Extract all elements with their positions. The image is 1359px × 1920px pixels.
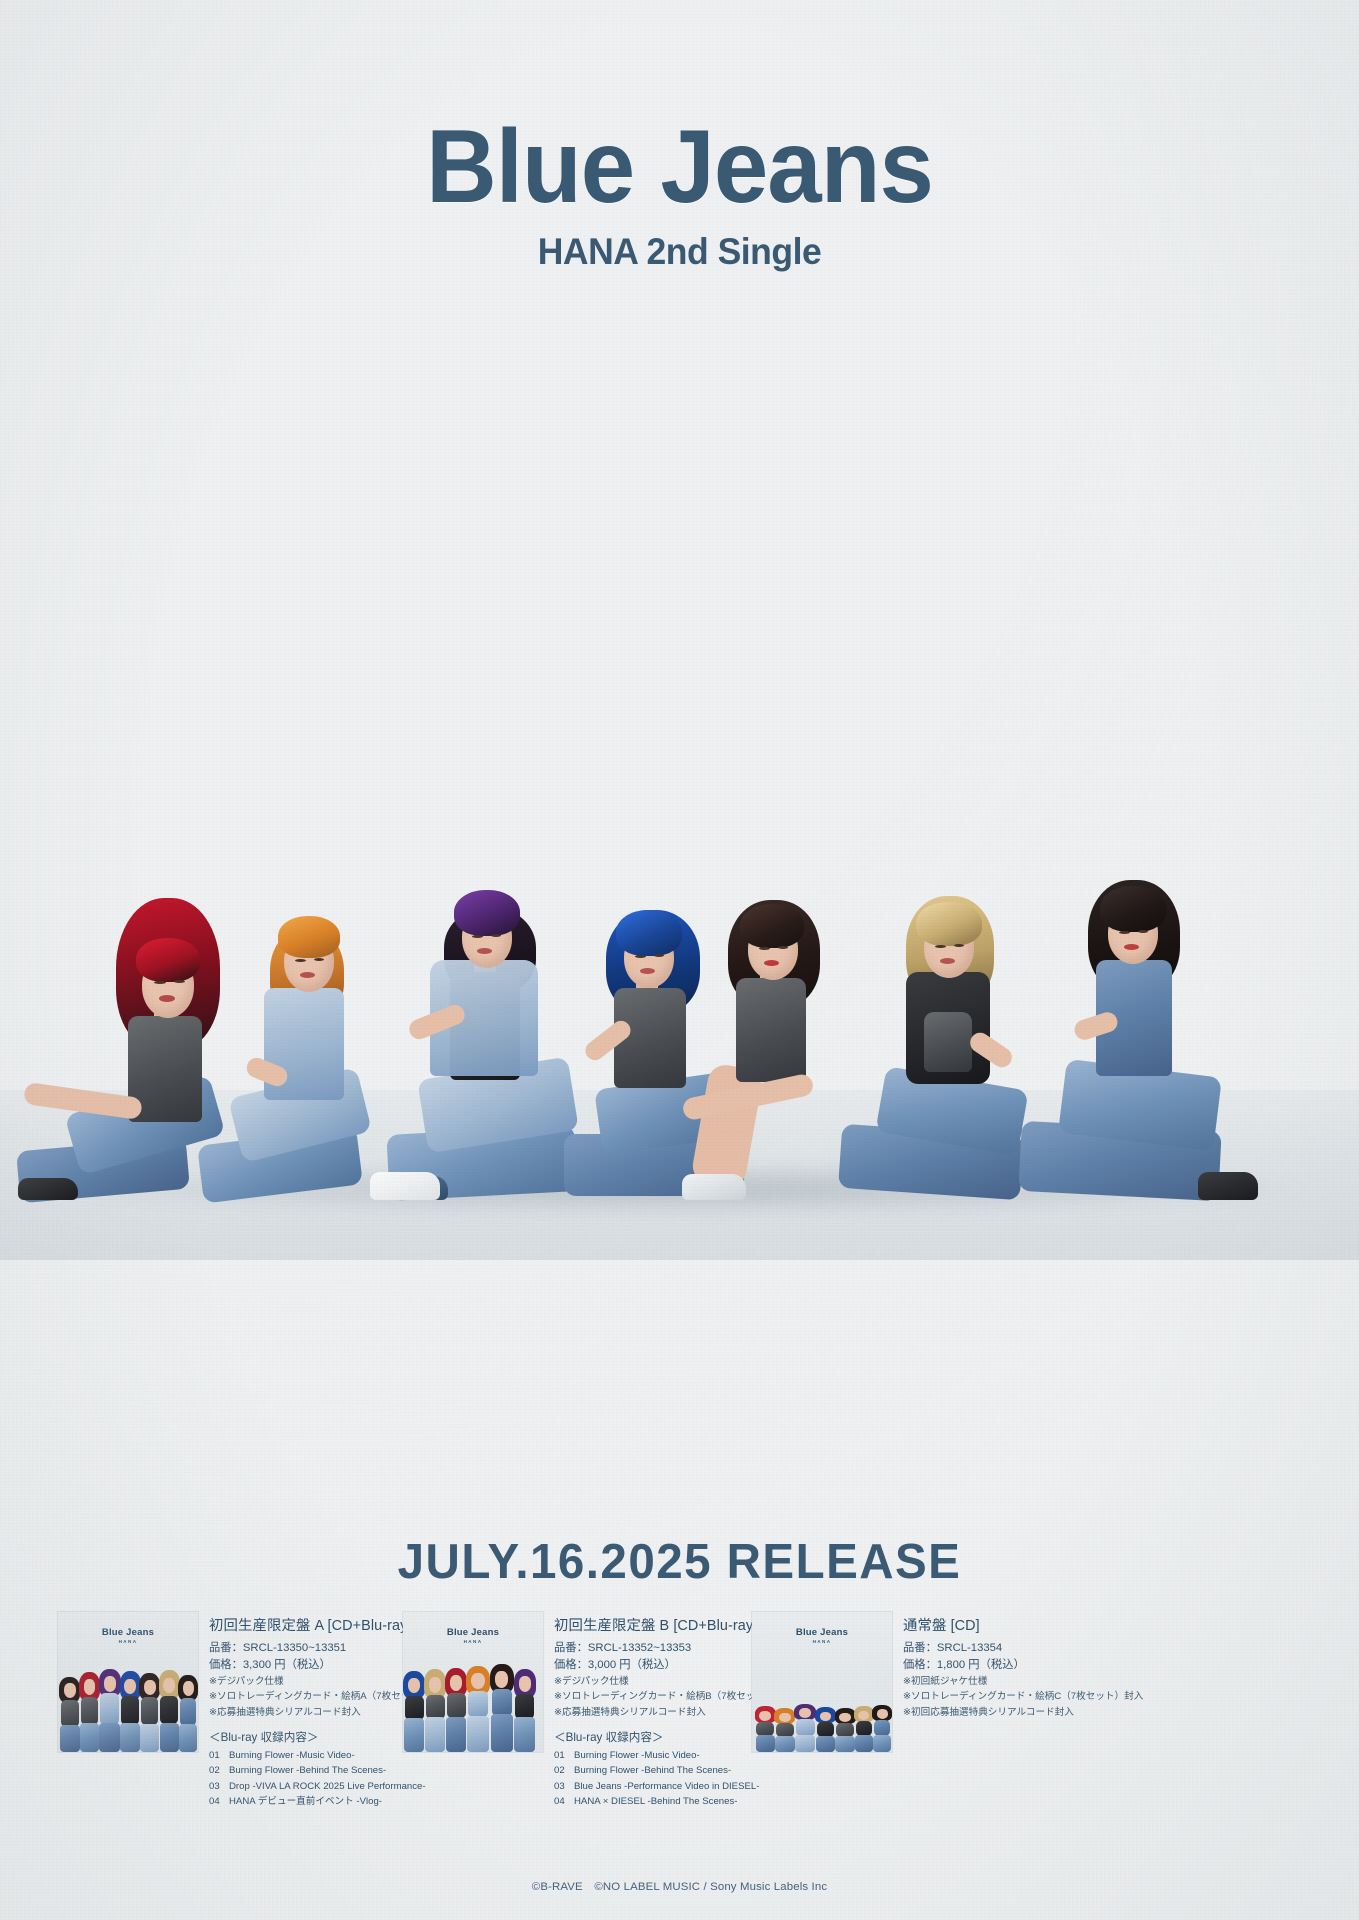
track-row: 03Blue Jeans -Performance Video in DIESE… bbox=[554, 1779, 794, 1795]
cover-art-limited-a: Blue Jeans HANA bbox=[58, 1612, 198, 1752]
track-number: 04 bbox=[554, 1794, 574, 1810]
copyright-notice: ©B-RAVE ©NO LABEL MUSIC / Sony Music Lab… bbox=[0, 1878, 1359, 1894]
edition-catalog: 品番：SRCL-13354 bbox=[903, 1640, 1143, 1657]
cover-artist: HANA bbox=[58, 1639, 198, 1644]
track-name: Drop -VIVA LA ROCK 2025 Live Performance… bbox=[229, 1781, 426, 1792]
edition-title: 通常盤 [CD] bbox=[903, 1614, 1143, 1635]
edition-text-regular: 通常盤 [CD] 品番：SRCL-13354 価格：1,800 円（税込） ※初… bbox=[903, 1612, 1143, 1752]
editions-section: Blue Jeans HANA 初回生産限定盤 A [CD+Blu-ray] 品… bbox=[0, 1612, 1359, 1827]
track-name: Burning Flower -Behind The Scenes- bbox=[229, 1765, 386, 1776]
cover-artist: HANA bbox=[752, 1639, 892, 1644]
track-number: 02 bbox=[554, 1763, 574, 1779]
track-name: HANA デビュー直前イベント -Vlog- bbox=[229, 1796, 382, 1807]
cover-figures bbox=[403, 1656, 543, 1752]
cover-title: Blue Jeans bbox=[403, 1627, 543, 1638]
edition-block-limited-b: Blue Jeans HANA 初回生産限定盤 B [CD+Blu-ray] 品… bbox=[403, 1612, 794, 1810]
track-name: Burning Flower -Behind The Scenes- bbox=[574, 1765, 731, 1776]
track-name: Blue Jeans -Performance Video in DIESEL- bbox=[574, 1781, 759, 1792]
edition-price: 価格：1,800 円（税込） bbox=[903, 1657, 1143, 1674]
cover-title: Blue Jeans bbox=[752, 1627, 892, 1638]
track-row: 02Burning Flower -Behind The Scenes- bbox=[554, 1763, 794, 1779]
track-row: 04HANA × DIESEL -Behind The Scenes- bbox=[554, 1794, 794, 1810]
track-number: 01 bbox=[554, 1748, 574, 1764]
member-figure-2 bbox=[200, 864, 390, 1200]
page-subtitle: HANA 2nd Single bbox=[27, 231, 1332, 273]
cover-figures bbox=[58, 1656, 198, 1752]
track-number: 04 bbox=[209, 1794, 229, 1810]
cover-art-limited-b: Blue Jeans HANA bbox=[403, 1612, 543, 1752]
edition-block-regular: Blue Jeans HANA 通常盤 [CD] 品番：SRCL-13354 価… bbox=[752, 1612, 1143, 1752]
poster-header: Blue Jeans HANA 2nd Single bbox=[0, 118, 1359, 273]
track-name: Burning Flower -Music Video- bbox=[229, 1750, 355, 1761]
cover-artist: HANA bbox=[403, 1639, 543, 1644]
edition-note: ※初回応募抽選特典シリアルコード封入 bbox=[903, 1705, 1143, 1720]
release-date: JULY.16.2025 RELEASE bbox=[20, 1534, 1338, 1590]
track-name: HANA × DIESEL -Behind The Scenes- bbox=[574, 1796, 737, 1807]
edition-block-limited-a: Blue Jeans HANA 初回生産限定盤 A [CD+Blu-ray] 品… bbox=[58, 1612, 449, 1810]
edition-note: ※ソロトレーディングカード・絵柄C（7枚セット）封入 bbox=[903, 1689, 1143, 1704]
track-number: 03 bbox=[209, 1779, 229, 1795]
track-name: Burning Flower -Music Video- bbox=[574, 1750, 700, 1761]
member-figure-7 bbox=[1000, 840, 1240, 1200]
track-number: 01 bbox=[209, 1748, 229, 1764]
cover-art-regular: Blue Jeans HANA bbox=[752, 1612, 892, 1752]
cover-title: Blue Jeans bbox=[58, 1627, 198, 1638]
cover-figures bbox=[752, 1696, 892, 1752]
track-number: 02 bbox=[209, 1763, 229, 1779]
page-title: Blue Jeans bbox=[41, 118, 1318, 217]
member-figure-5 bbox=[672, 860, 862, 1200]
edition-note: ※初回紙ジャケ仕様 bbox=[903, 1674, 1143, 1689]
group-photo bbox=[0, 780, 1359, 1260]
track-number: 03 bbox=[554, 1779, 574, 1795]
